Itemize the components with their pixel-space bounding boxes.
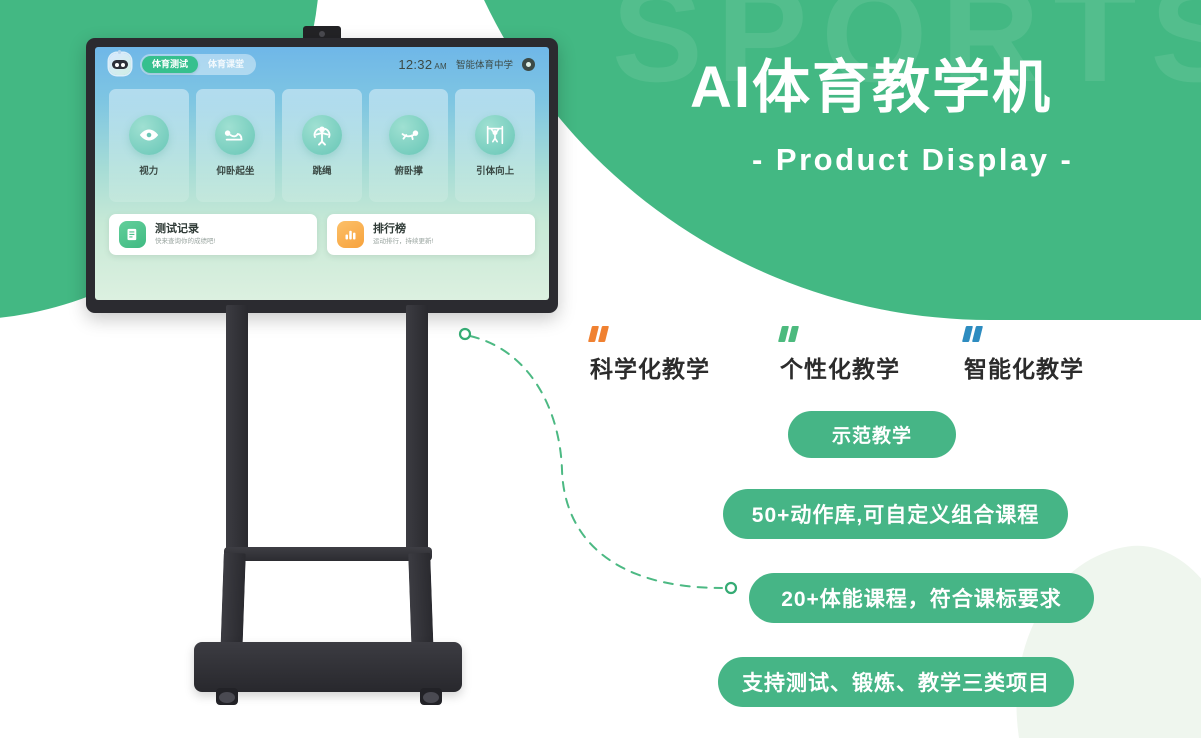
statusbar-right: 12:32AM 智能体育中学 <box>398 57 535 72</box>
decorative-blob-bottom-right <box>995 533 1201 738</box>
display-screen: 体育测试 体育课堂 12:32AM 智能体育中学 <box>95 47 549 300</box>
display-stand <box>170 305 490 717</box>
quote-mark-icon <box>590 326 770 342</box>
chart-bar-icon <box>337 221 364 248</box>
quote-mark-icon <box>780 326 950 342</box>
card-test-records[interactable]: 测试记录 快来查询你的成绩吧! <box>109 214 317 255</box>
stand-post-left <box>226 305 248 555</box>
situp-icon <box>215 115 255 155</box>
tile-pushups[interactable]: 俯卧撑 <box>369 89 449 202</box>
connector-endpoint-start <box>460 329 470 339</box>
robot-avatar-icon <box>109 53 131 75</box>
card-subtitle: 运动排行，持续更新! <box>373 238 433 245</box>
card-title: 测试记录 <box>155 223 215 235</box>
card-title: 排行榜 <box>373 223 433 235</box>
eye-icon <box>129 115 169 155</box>
record-icon <box>119 221 146 248</box>
test-item-grid: 视力 仰卧起坐 <box>109 89 535 202</box>
page-title: AI体育教学机 <box>690 56 1052 120</box>
tile-label: 仰卧起坐 <box>216 163 254 177</box>
tile-label: 引体向上 <box>476 163 514 177</box>
jump-rope-icon <box>302 115 342 155</box>
pill-action-library: 50+动作库,可自定义组合课程 <box>723 489 1068 539</box>
interactive-display-device: 体育测试 体育课堂 12:32AM 智能体育中学 <box>86 38 558 313</box>
card-subtitle: 快来查询你的成绩吧! <box>155 238 215 245</box>
clock-meridiem: AM <box>434 62 447 71</box>
tab-sports-test[interactable]: 体育测试 <box>142 56 198 73</box>
quote-mark-icon <box>964 326 1130 342</box>
feature-scientific: 科学化教学 <box>590 326 770 384</box>
tile-label: 俯卧撑 <box>394 163 423 177</box>
stand-base <box>194 642 462 692</box>
caster-wheel-left <box>216 688 238 705</box>
tile-pullups[interactable]: 引体向上 <box>455 89 535 202</box>
card-text: 测试记录 快来查询你的成绩吧! <box>155 223 215 245</box>
card-leaderboard[interactable]: 排行榜 运动排行，持续更新! <box>327 214 535 255</box>
pill-fitness-courses: 20+体能课程，符合课标要求 <box>749 573 1094 623</box>
pill-three-project-types: 支持测试、锻炼、教学三类项目 <box>718 657 1074 707</box>
pullup-icon <box>475 115 515 155</box>
feature-title: 科学化教学 <box>590 350 770 384</box>
tab-sports-class[interactable]: 体育课堂 <box>198 56 254 73</box>
school-name: 智能体育中学 <box>456 57 513 71</box>
connector-endpoint-end <box>726 583 736 593</box>
caster-wheel-right <box>420 688 442 705</box>
tile-label: 视力 <box>139 163 158 177</box>
shortcut-cards: 测试记录 快来查询你的成绩吧! 排 <box>109 214 535 255</box>
tab-group: 体育测试 体育课堂 <box>140 54 256 75</box>
page-subtitle: - Product Display - <box>752 142 1073 178</box>
tile-jump-rope[interactable]: 跳绳 <box>282 89 362 202</box>
feature-intelligent: 智能化教学 <box>950 326 1130 384</box>
tile-label: 跳绳 <box>312 163 331 177</box>
tile-vision[interactable]: 视力 <box>109 89 189 202</box>
pill-demo-teaching: 示范教学 <box>788 411 956 458</box>
feature-title: 个性化教学 <box>780 350 950 384</box>
feature-title: 智能化教学 <box>964 350 1130 384</box>
stand-shelf <box>224 547 432 561</box>
clock: 12:32AM <box>398 57 447 72</box>
poster-root: SPORTS AI体育教学机 - Product Display - 体育测试 … <box>0 0 1201 738</box>
gear-icon[interactable] <box>522 58 535 71</box>
display-bezel: 体育测试 体育课堂 12:32AM 智能体育中学 <box>86 38 558 313</box>
tile-situps[interactable]: 仰卧起坐 <box>196 89 276 202</box>
stand-post-right <box>406 305 428 555</box>
card-text: 排行榜 运动排行，持续更新! <box>373 223 433 245</box>
feature-personalized: 个性化教学 <box>770 326 950 384</box>
pushup-icon <box>389 115 429 155</box>
screen-statusbar: 体育测试 体育课堂 12:32AM 智能体育中学 <box>95 47 549 81</box>
clock-time: 12:32 <box>398 57 432 72</box>
feature-heading-row: 科学化教学 个性化教学 智能化教学 <box>590 326 1130 384</box>
